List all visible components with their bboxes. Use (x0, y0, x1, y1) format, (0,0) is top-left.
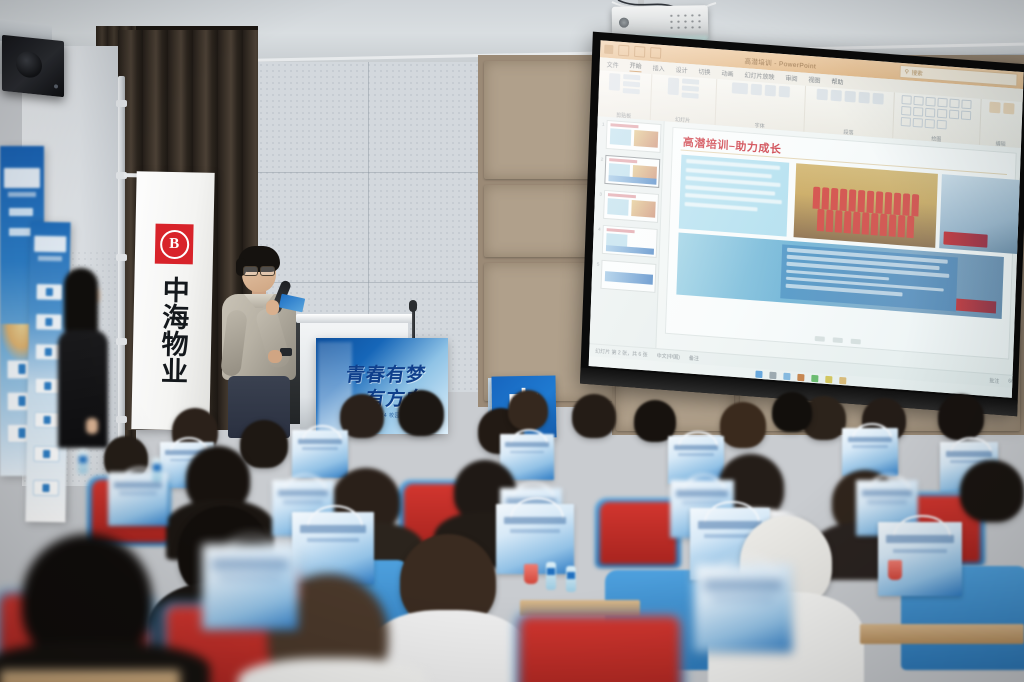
section-icon (682, 93, 699, 99)
browser-icon[interactable] (797, 373, 804, 381)
group-photo-red-uniforms (794, 163, 938, 248)
language-indicator[interactable]: 中文(中国) (656, 352, 680, 361)
speaker-cone (16, 50, 42, 79)
banner-company-name: 中海物业 (155, 276, 190, 385)
photo-caption-badge (943, 231, 987, 247)
projector-lens-icon (619, 18, 629, 28)
next-slide-icon (850, 338, 860, 344)
seminar-photo-scene: 高潜培训 - PowerPoint ⚲ 搜索 文件 开始 插入 设计 切换 动画… (0, 0, 1024, 682)
layout-icon (682, 79, 699, 85)
tab-review[interactable]: 审阅 (785, 73, 797, 83)
ribbon-group-editing[interactable]: 编辑 (980, 99, 1023, 150)
thumbnail-item[interactable]: 4 (595, 224, 658, 258)
speaker-led-icon (54, 84, 58, 88)
search-placeholder: 搜索 (912, 68, 923, 77)
thumbnail-slide-2-selected[interactable] (604, 155, 660, 188)
thumbnail-number: 3 (597, 189, 602, 196)
line-spacing-icon[interactable] (872, 93, 883, 105)
find-icon[interactable] (989, 102, 1000, 114)
ppt-workspace: 1 2 3 (589, 116, 1020, 376)
projection-screen: 高潜培训 - PowerPoint ⚲ 搜索 文件 开始 插入 设计 切换 动画… (580, 32, 1024, 417)
tab-design[interactable]: 设计 (675, 65, 687, 75)
logo-glyph: B (159, 229, 189, 259)
presenter-hand-on-mic (266, 300, 279, 315)
start-icon[interactable] (755, 370, 762, 378)
explorer-icon[interactable] (783, 372, 790, 380)
numbering-icon[interactable] (830, 90, 841, 102)
quick-access-toolbar[interactable] (600, 43, 661, 59)
thumbnail-number: 4 (596, 224, 601, 231)
current-slide[interactable]: 高潜培训–助力成长 (665, 127, 1017, 360)
copy-icon (623, 81, 640, 87)
format-painter-icon (623, 88, 640, 94)
paste-icon[interactable] (609, 73, 621, 91)
undo-icon[interactable] (618, 45, 629, 57)
font-name-box[interactable] (732, 82, 748, 94)
tab-file[interactable]: 文件 (607, 60, 619, 70)
presenter-glasses-icon (243, 266, 275, 274)
tab-transitions[interactable]: 切换 (698, 67, 710, 77)
select-icon[interactable] (1003, 103, 1014, 115)
shapes-gallery[interactable] (901, 95, 974, 131)
slide-editing-area[interactable]: 高潜培训–助力成长 (656, 121, 1021, 376)
play-icon (832, 337, 842, 343)
ribbon-group-slides[interactable]: 幻灯片 (650, 74, 717, 127)
thumbnail-number: 5 (594, 259, 599, 266)
wechat-icon[interactable] (811, 374, 818, 382)
align-center-icon[interactable] (858, 92, 869, 104)
tab-home[interactable]: 开始 (629, 61, 641, 73)
chevron-down-icon[interactable] (650, 47, 661, 59)
projector-vents (668, 12, 702, 31)
reset-icon (682, 86, 699, 92)
thumbnail-number: 1 (599, 119, 604, 126)
photo-caption-badge-2 (956, 299, 996, 314)
prev-slide-icon (814, 335, 824, 341)
podium-banner-line1: 青春有梦 (344, 360, 428, 387)
slide-text-box[interactable] (679, 155, 789, 237)
notes-button[interactable]: 备注 (689, 354, 699, 362)
bold-icon[interactable] (765, 85, 776, 97)
thumbnail-item[interactable]: 2 (597, 154, 660, 188)
search-icon[interactable] (769, 371, 776, 379)
search-icon: ⚲ (905, 69, 909, 75)
audience-seating (0, 384, 1024, 682)
bullets-icon[interactable] (816, 89, 827, 101)
slide-thumbnail-pane[interactable]: 1 2 3 (589, 116, 664, 349)
wall-speaker (2, 35, 64, 98)
save-icon[interactable] (604, 45, 613, 55)
podium-mic-head-icon (409, 300, 417, 312)
italic-icon[interactable] (779, 86, 790, 98)
thumbnail-item[interactable]: 5 (594, 259, 657, 293)
new-slide-icon[interactable] (668, 77, 680, 95)
font-size-box[interactable] (751, 84, 762, 96)
thumbnail-slide-1[interactable] (606, 120, 662, 153)
music-icon[interactable] (825, 375, 832, 383)
company-logo-icon: B (155, 224, 194, 265)
photo-text-overlay (781, 244, 959, 311)
align-left-icon[interactable] (844, 91, 855, 103)
thumbnail-item[interactable]: 1 (599, 119, 662, 153)
tab-view[interactable]: 视图 (808, 75, 820, 85)
tab-help[interactable]: 帮助 (831, 77, 843, 87)
thumbnail-slide-3[interactable] (603, 190, 659, 223)
presenter-hand-with-clicker (268, 350, 282, 363)
ribbon-group-clipboard[interactable]: 剪贴板 (598, 70, 652, 122)
thumbnail-item[interactable]: 3 (596, 189, 659, 223)
tab-insert[interactable]: 插入 (652, 63, 664, 73)
projected-powerpoint-window[interactable]: 高潜培训 - PowerPoint ⚲ 搜索 文件 开始 插入 设计 切换 动画… (589, 40, 1024, 398)
podium-top-surface (296, 314, 414, 323)
tab-slideshow[interactable]: 幻灯片放映 (744, 70, 774, 81)
redo-icon[interactable] (634, 46, 645, 58)
cut-icon (624, 74, 641, 80)
lab-training-photo (939, 174, 1024, 255)
thumbnail-number: 2 (598, 154, 603, 161)
folder-icon[interactable] (839, 376, 846, 384)
tab-animations[interactable]: 动画 (721, 68, 733, 78)
thumbnail-slide-4[interactable] (602, 225, 658, 258)
thumbnail-slide-5[interactable] (600, 260, 656, 293)
